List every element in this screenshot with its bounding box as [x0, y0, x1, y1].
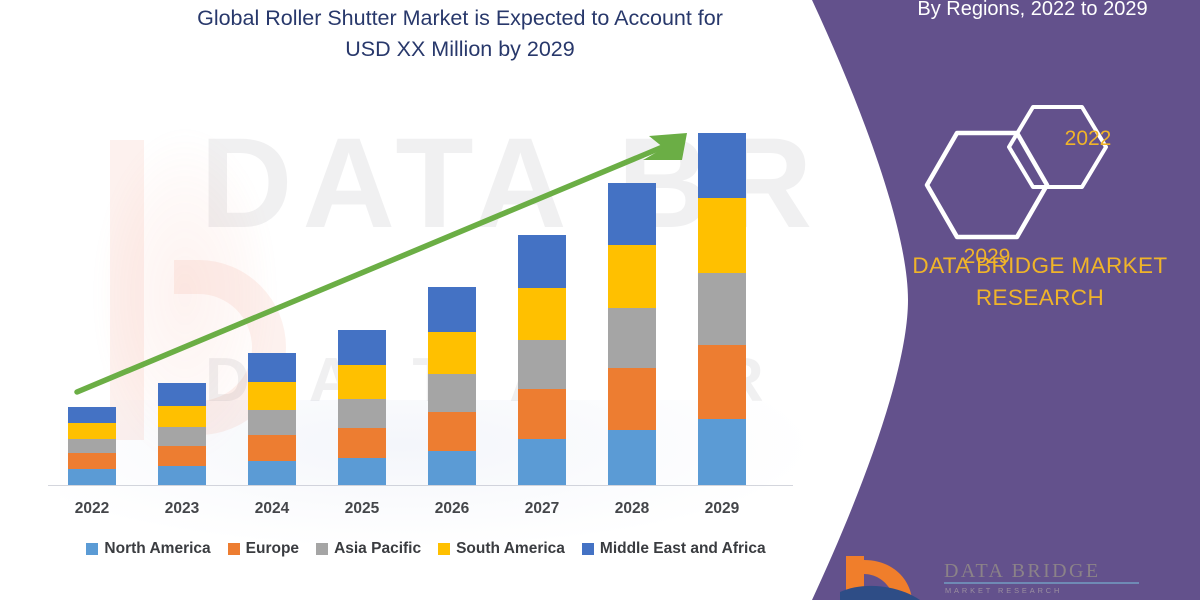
bar-segment-asia-pacific	[248, 410, 296, 435]
legend-item-middle-east-and-africa[interactable]: Middle East and Africa	[582, 540, 766, 558]
legend-swatch-icon	[582, 543, 594, 555]
brand-line2: RESEARCH	[880, 282, 1200, 314]
bar-2026	[428, 287, 476, 485]
legend-label: South America	[456, 540, 565, 558]
bar-2024	[248, 353, 296, 485]
bar-segment-middle-east-and-africa	[698, 133, 746, 198]
brand-name: DATA BRIDGE MARKET RESEARCH	[880, 250, 1200, 314]
bar-segment-asia-pacific	[608, 308, 656, 368]
bar-segment-europe	[248, 435, 296, 461]
bar-segment-middle-east-and-africa	[158, 383, 206, 406]
bar-segment-south-america	[608, 245, 656, 308]
legend-swatch-icon	[438, 543, 450, 555]
brand-line1: DATA BRIDGE MARKET	[880, 250, 1200, 282]
bar-2027	[518, 235, 566, 485]
x-axis-label-2025: 2025	[317, 500, 407, 518]
x-axis-label-2029: 2029	[677, 500, 767, 518]
legend-label: North America	[104, 540, 210, 558]
logo-bridge-icon	[838, 552, 938, 600]
chart-baseline	[48, 485, 793, 486]
hexagon-outlines	[915, 85, 1185, 245]
bar-segment-asia-pacific	[338, 399, 386, 428]
databridge-logo: DATA BRIDGE MARKET RESEARCH	[838, 552, 1168, 600]
x-axis-label-2027: 2027	[497, 500, 587, 518]
bar-segment-south-america	[698, 198, 746, 273]
bar-segment-north-america	[608, 430, 656, 485]
hexagon-2022-label: 2022	[1033, 127, 1143, 151]
bar-segment-south-america	[248, 382, 296, 410]
bar-2025	[338, 330, 386, 485]
bar-segment-north-america	[68, 469, 116, 485]
legend-label: Europe	[246, 540, 299, 558]
bar-segment-middle-east-and-africa	[428, 287, 476, 332]
bar-segment-south-america	[68, 423, 116, 439]
bar-segment-south-america	[518, 288, 566, 340]
x-axis-label-2024: 2024	[227, 500, 317, 518]
bar-segment-asia-pacific	[158, 427, 206, 446]
stacked-bar-chart: 20222023202420252026202720282029	[0, 0, 820, 600]
bar-segment-middle-east-and-africa	[338, 330, 386, 365]
bar-segment-europe	[518, 389, 566, 439]
bar-segment-europe	[68, 453, 116, 469]
bar-segment-asia-pacific	[428, 374, 476, 412]
bar-segment-asia-pacific	[68, 439, 116, 453]
x-axis-label-2028: 2028	[587, 500, 677, 518]
bar-segment-europe	[698, 345, 746, 419]
bar-2028	[608, 183, 656, 485]
bar-segment-north-america	[248, 461, 296, 485]
bar-segment-south-america	[158, 406, 206, 427]
bar-segment-north-america	[338, 458, 386, 485]
bar-segment-europe	[428, 412, 476, 451]
x-axis-label-2026: 2026	[407, 500, 497, 518]
legend-item-europe[interactable]: Europe	[228, 540, 299, 558]
logo-wordmark: DATA BRIDGE	[944, 560, 1100, 583]
legend-swatch-icon	[86, 543, 98, 555]
panel-title: By Regions, 2022 to 2029	[865, 0, 1200, 24]
legend-swatch-icon	[228, 543, 240, 555]
bar-segment-middle-east-and-africa	[518, 235, 566, 288]
logo-tagline: MARKET RESEARCH	[945, 586, 1062, 595]
infographic-root: DATA BR D A T A B R Global Roller Shutte…	[0, 0, 1200, 600]
bar-segment-europe	[158, 446, 206, 466]
legend-item-asia-pacific[interactable]: Asia Pacific	[316, 540, 421, 558]
bar-segment-middle-east-and-africa	[248, 353, 296, 382]
bar-segment-south-america	[338, 365, 386, 399]
bar-segment-europe	[338, 428, 386, 458]
bar-2029	[698, 133, 746, 485]
legend-item-north-america[interactable]: North America	[86, 540, 210, 558]
x-axis-label-2023: 2023	[137, 500, 227, 518]
bar-segment-asia-pacific	[518, 340, 566, 389]
legend-swatch-icon	[316, 543, 328, 555]
legend-item-south-america[interactable]: South America	[438, 540, 565, 558]
bar-segment-asia-pacific	[698, 273, 746, 345]
bar-segment-middle-east-and-africa	[608, 183, 656, 245]
x-axis-label-2022: 2022	[47, 500, 137, 518]
hexagon-badges: 2022 2029	[915, 85, 1185, 245]
bar-segment-north-america	[428, 451, 476, 485]
bar-segment-north-america	[698, 419, 746, 485]
bar-2022	[68, 407, 116, 485]
hexagon-2029-shape	[927, 133, 1047, 237]
bar-segment-south-america	[428, 332, 476, 374]
legend-label: Middle East and Africa	[600, 540, 766, 558]
bar-2023	[158, 383, 206, 485]
bar-segment-middle-east-and-africa	[68, 407, 116, 423]
chart-legend: North AmericaEuropeAsia PacificSouth Ame…	[46, 540, 806, 558]
bar-segment-north-america	[158, 466, 206, 485]
bar-segment-europe	[608, 368, 656, 430]
bar-segment-north-america	[518, 439, 566, 485]
legend-label: Asia Pacific	[334, 540, 421, 558]
